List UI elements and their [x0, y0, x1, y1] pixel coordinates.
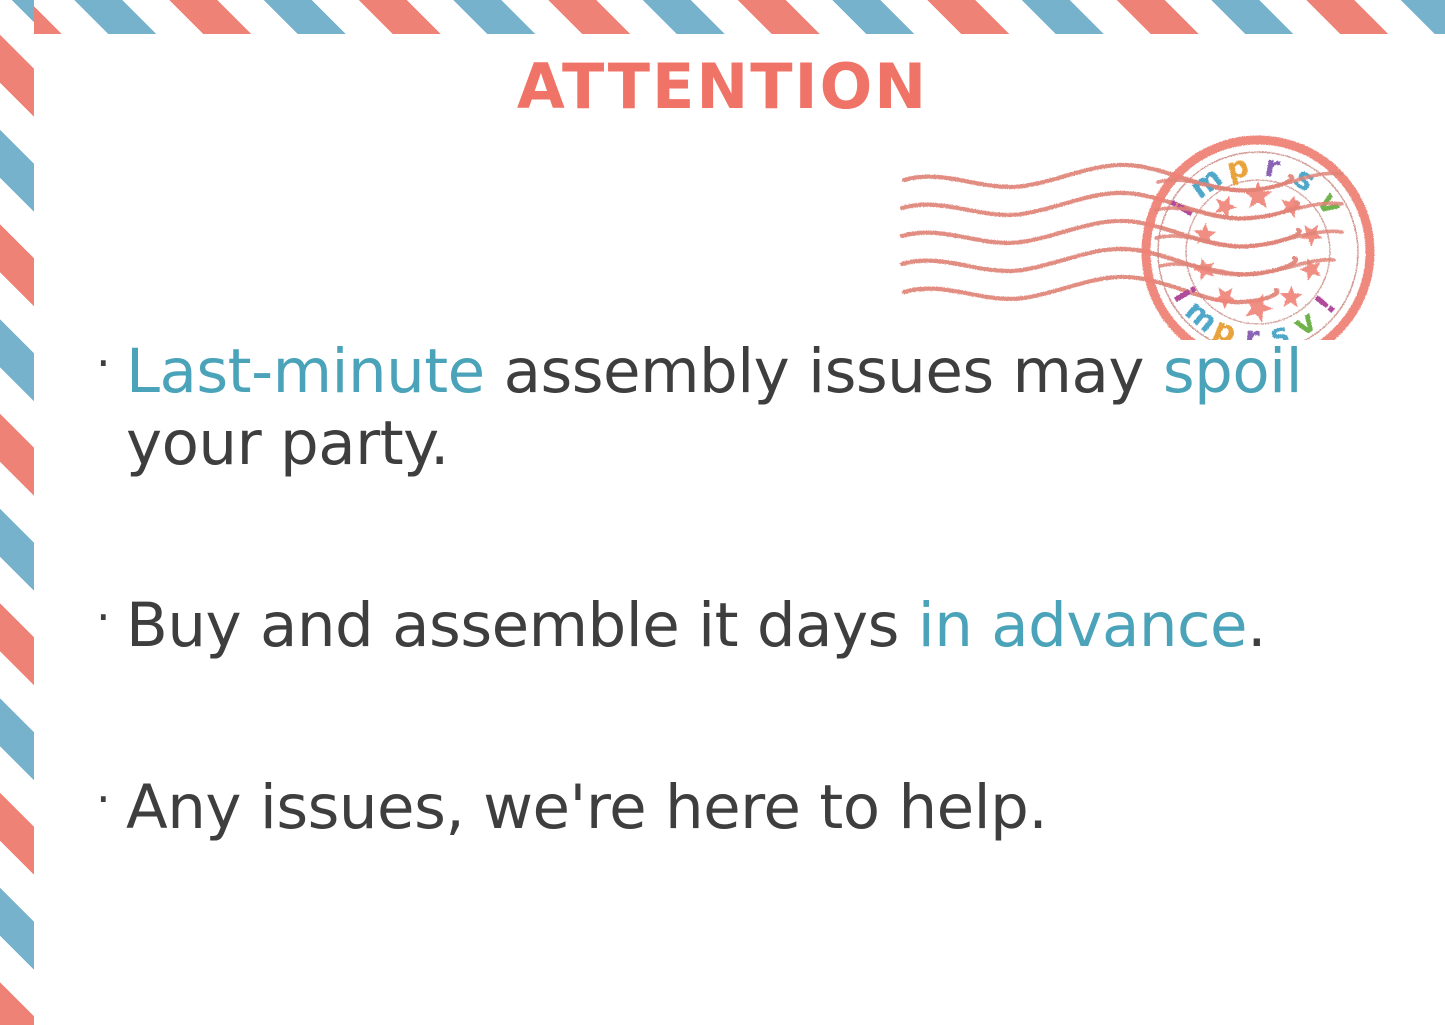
postal-stamp-svg: imprsv imprsv!	[890, 60, 1380, 340]
bullet-plain: Buy and assemble it days	[126, 590, 918, 661]
stamp-brand-letter: p	[1223, 149, 1252, 188]
bullet-plain: .	[1247, 590, 1266, 661]
bullet-highlight: spoil	[1163, 336, 1302, 407]
bullet-text: Any issues, we're here to help.	[126, 772, 1396, 844]
bullet-text: Last-minute assembly issues may spoil yo…	[126, 336, 1396, 480]
bullet-list: ·Last-minute assembly issues may spoil y…	[96, 336, 1396, 844]
bullet-plain: assembly issues may	[485, 336, 1163, 407]
stamp-brand-letter: !	[1308, 289, 1344, 321]
postal-stamp: imprsv imprsv!	[890, 60, 1380, 340]
bullet-text: Buy and assemble it days in advance.	[126, 590, 1396, 662]
bullet-item: ·Last-minute assembly issues may spoil y…	[96, 336, 1396, 480]
stamp-stars	[1193, 181, 1323, 322]
bullet-dot-icon: ·	[96, 590, 126, 644]
bullet-plain: your party.	[126, 408, 449, 479]
stamp-brand-letter: r	[1262, 149, 1283, 186]
stamp-star-icon	[1280, 285, 1303, 307]
stamp-star-icon	[1244, 181, 1273, 208]
bullet-dot-icon: ·	[96, 772, 126, 826]
bullet-highlight: in advance	[918, 590, 1247, 661]
bullet-dot-icon: ·	[96, 336, 126, 390]
bullet-item: ·Buy and assemble it days in advance.	[96, 590, 1396, 662]
bullet-plain: Any issues, we're here to help.	[126, 772, 1047, 843]
stamp-brand-letter: v	[1287, 304, 1323, 340]
attention-card: ATTENTION	[0, 0, 1445, 1025]
bullet-item: ·Any issues, we're here to help.	[96, 772, 1396, 844]
bullet-highlight: Last-minute	[126, 336, 485, 407]
